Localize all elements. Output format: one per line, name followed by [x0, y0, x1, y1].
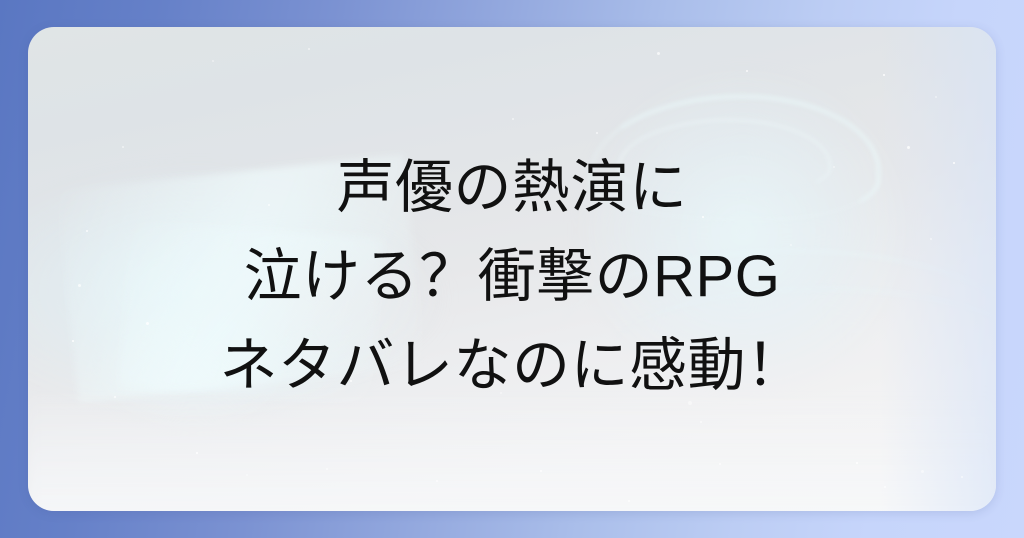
star-speck	[884, 486, 886, 488]
star-speck	[212, 60, 214, 62]
star-speck	[700, 421, 702, 423]
star-speck	[961, 476, 963, 478]
star-speck	[657, 52, 660, 55]
thumbnail-card: 声優の熱演に 泣ける？衝撃のRPG ネタバレなのに感動！	[28, 27, 996, 511]
star-speck	[596, 132, 598, 134]
star-speck	[308, 48, 310, 50]
headline-line-3: ネタバレなのに感動！	[28, 321, 996, 410]
headline-text-block: 声優の熱演に 泣ける？衝撃のRPG ネタバレなのに感動！	[28, 143, 996, 410]
star-speck	[246, 474, 248, 476]
star-speck	[746, 70, 748, 72]
star-speck	[883, 74, 885, 76]
thumbnail-canvas: 声優の熱演に 泣ける？衝撃のRPG ネタバレなのに感動！	[0, 0, 1024, 538]
headline-line-1: 声優の熱演に	[28, 143, 996, 232]
star-speck	[512, 118, 514, 120]
star-speck	[436, 480, 438, 482]
star-speck	[628, 500, 630, 502]
star-speck	[921, 470, 924, 473]
star-speck	[326, 468, 328, 470]
star-speck	[540, 470, 542, 472]
star-speck	[719, 463, 721, 465]
star-speck	[196, 452, 198, 454]
headline-line-2: 泣ける？衝撃のRPG	[28, 232, 996, 321]
star-speck	[856, 462, 858, 464]
star-speck	[935, 96, 937, 98]
